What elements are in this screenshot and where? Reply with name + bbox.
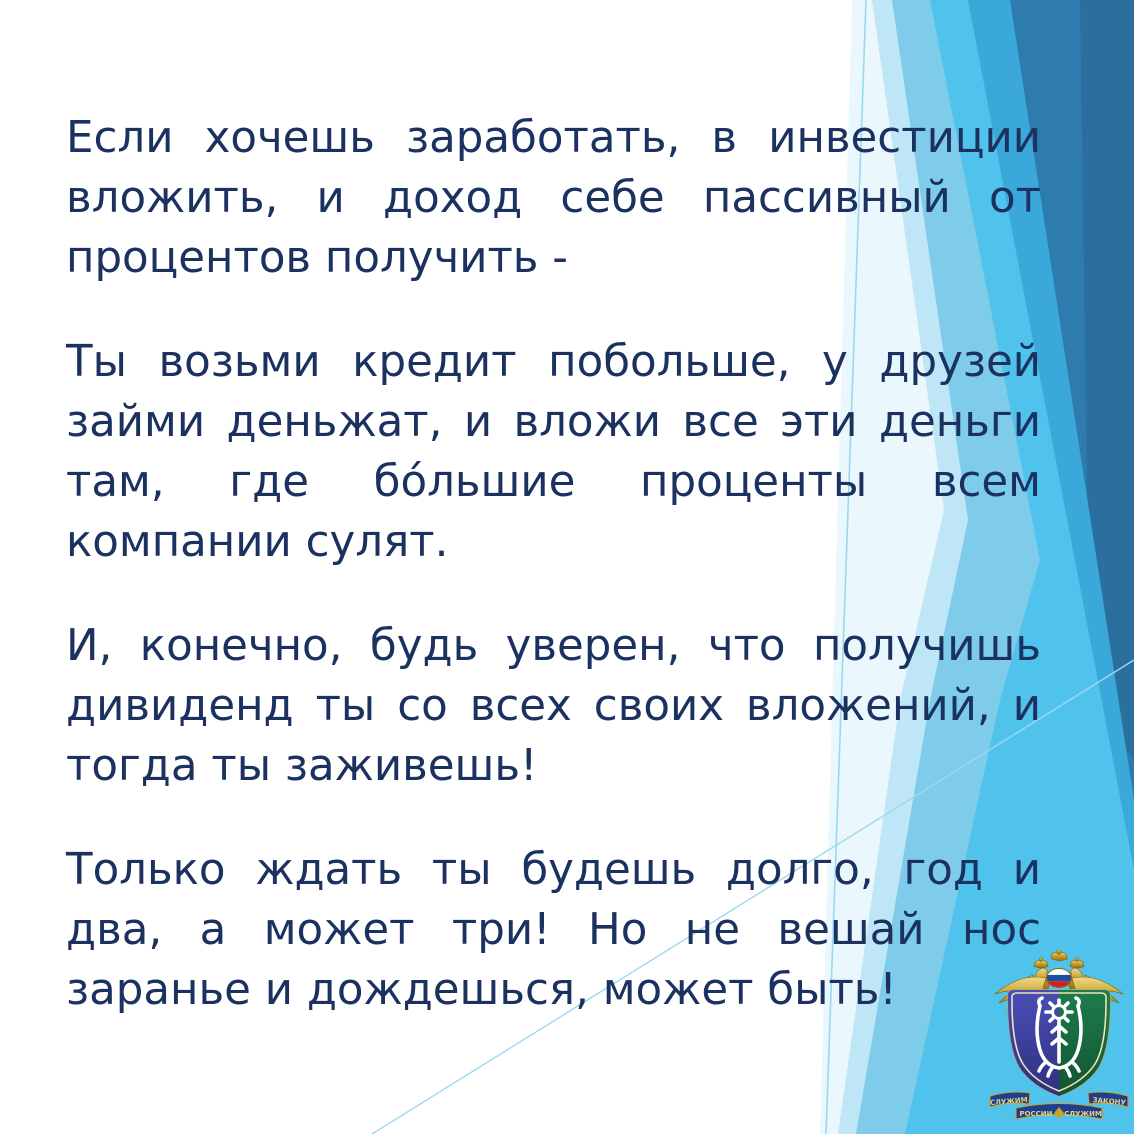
verse-paragraph-3: И, конечно, будь уверен, что получишь ди… <box>66 616 1041 796</box>
verse-text-block: Если хочешь заработать, в инвестиции вло… <box>66 108 1041 1020</box>
slide-canvas: Если хочешь заработать, в инвестиции вло… <box>0 0 1134 1134</box>
ugra-shield-icon <box>1006 988 1112 1100</box>
ribbon-text-right: ЗАКОНУ <box>1092 1096 1126 1107</box>
verse-paragraph-1: Если хочешь заработать, в инвестиции вло… <box>66 108 1041 288</box>
russian-tricolor-shield-icon <box>1046 969 1072 988</box>
mvd-ugra-emblem: СЛУЖИМ ЗАКОНУ РОССИИ СЛУЖИМ <box>988 950 1130 1128</box>
verse-paragraph-2: Ты возьми кредит побольше, у друзей займ… <box>66 332 1041 572</box>
bg-band-steel-dark <box>1080 0 1134 760</box>
ribbon-text-center-right: СЛУЖИМ <box>1064 1110 1102 1118</box>
ribbon-text-center-left: РОССИИ <box>1019 1110 1052 1118</box>
verse-paragraph-4: Только ждать ты будешь долго, год и два,… <box>66 840 1041 1020</box>
